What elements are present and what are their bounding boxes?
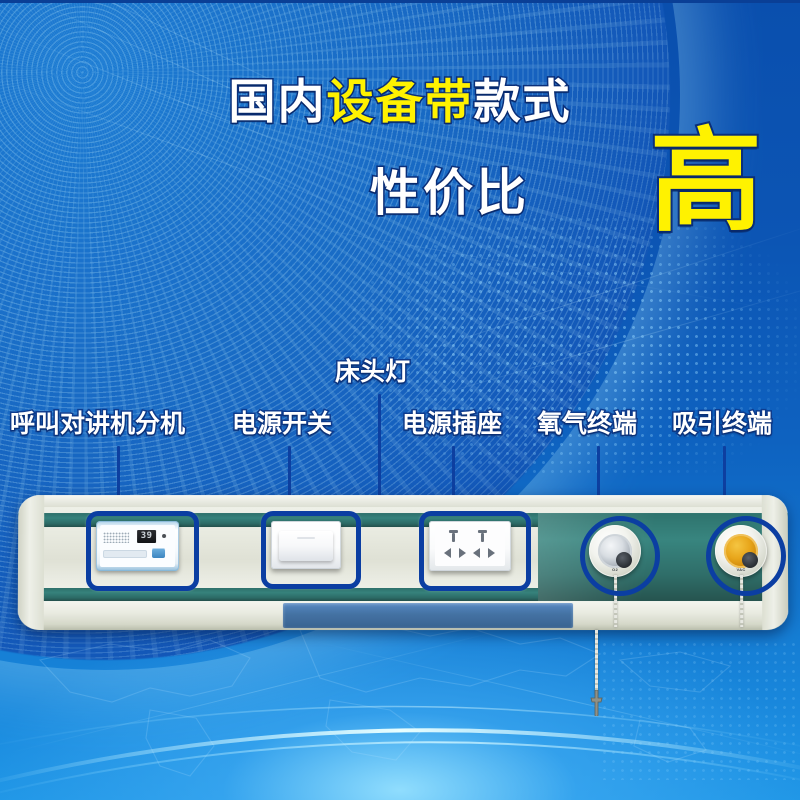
highlight-circle-suction bbox=[706, 516, 786, 596]
panel-top-edge bbox=[18, 495, 788, 507]
headline-part-3: 款式 bbox=[474, 75, 572, 128]
headline-part-2-highlight: 设备带 bbox=[327, 75, 474, 128]
headline-part-1: 国内 bbox=[229, 75, 327, 128]
headline-line-2: 性价比 高 bbox=[0, 168, 800, 242]
top-border-line bbox=[0, 0, 800, 3]
callout-label-outlet: 电源插座 bbox=[402, 412, 502, 437]
subheadline-text: 性价比 bbox=[370, 168, 529, 218]
callout-label-switch: 电源开关 bbox=[232, 412, 332, 437]
panel-end-cap-left bbox=[18, 495, 45, 630]
subheadline-emphasis: 高 bbox=[650, 126, 762, 238]
highlight-box-switch bbox=[261, 511, 361, 589]
headline-line-1: 国内设备带款式 bbox=[0, 78, 800, 125]
pull-cord-line[interactable] bbox=[595, 630, 598, 695]
highlight-box-outlet bbox=[419, 511, 531, 591]
banner-stage: 国内设备带款式 性价比 高 呼叫对讲机分机 电源开关 床头灯 电源插座 氧气终端… bbox=[0, 0, 800, 800]
highlight-box-intercom bbox=[86, 511, 199, 591]
pull-cord-handle-icon[interactable] bbox=[590, 690, 603, 716]
callout-label-suction: 吸引终端 bbox=[672, 412, 772, 437]
callout-label-intercom: 呼叫对讲机分机 bbox=[10, 412, 185, 437]
callout-label-oxygen: 氧气终端 bbox=[537, 412, 637, 437]
highlight-circle-oxygen bbox=[580, 516, 660, 596]
bed-head-unit-panel: 39 bbox=[18, 495, 788, 640]
panel-reflection bbox=[283, 603, 573, 628]
callout-label-bedlamp: 床头灯 bbox=[335, 360, 410, 385]
